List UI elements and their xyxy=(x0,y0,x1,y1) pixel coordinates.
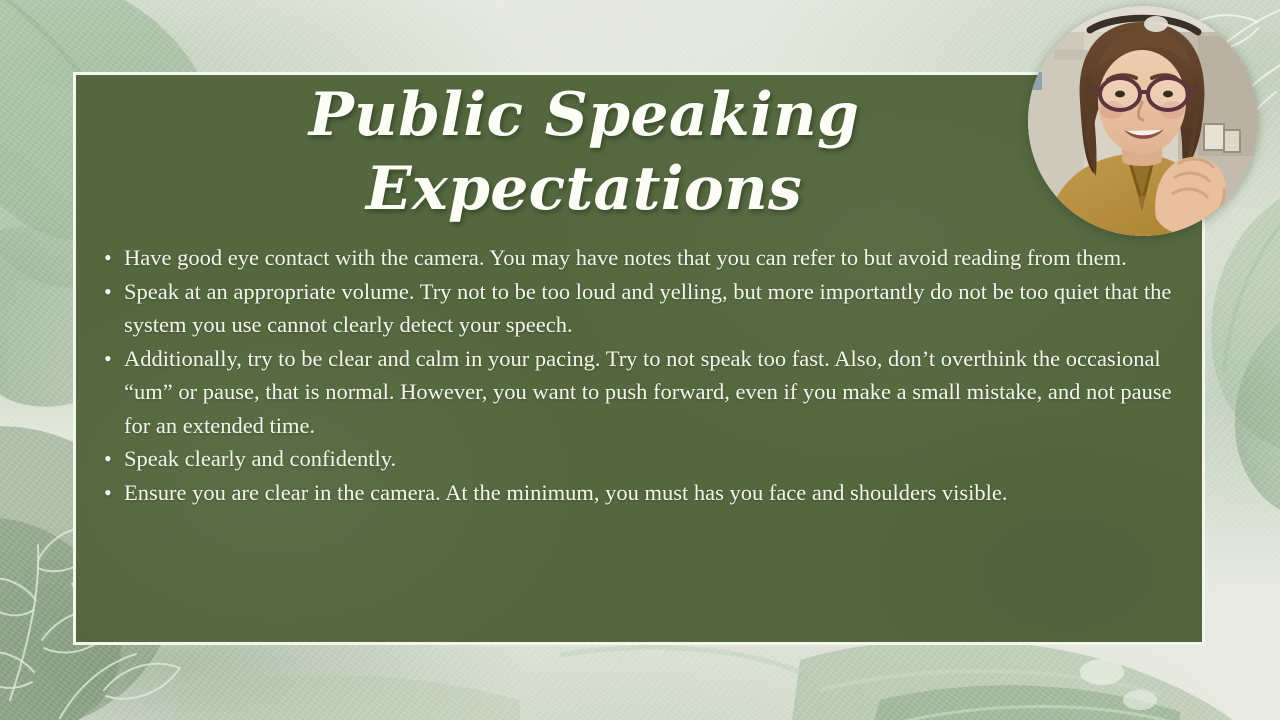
watercolor-shape-bottom-mid xyxy=(170,647,800,720)
presentation-slide: Public Speaking Expectations Have good e… xyxy=(0,0,1280,720)
list-item: Ensure you are clear in the camera. At t… xyxy=(94,476,1176,510)
watercolor-shape-right xyxy=(1211,180,1280,519)
list-item: Have good eye contact with the camera. Y… xyxy=(94,241,1176,275)
list-item: Speak at an appropriate volume. Try not … xyxy=(94,275,1176,342)
expectations-bullet-list: Have good eye contact with the camera. Y… xyxy=(76,241,1202,509)
title-line-2: Expectations xyxy=(106,159,1062,219)
list-item: Additionally, try to be clear and calm i… xyxy=(94,342,1176,443)
webcam-video-frame xyxy=(1028,6,1258,236)
list-item: Speak clearly and confidently. xyxy=(94,442,1176,476)
watercolor-shape-bottom-right xyxy=(790,640,1250,720)
presenter-webcam-bubble[interactable] xyxy=(1028,6,1258,236)
title-line-1: Public Speaking xyxy=(106,85,1062,145)
